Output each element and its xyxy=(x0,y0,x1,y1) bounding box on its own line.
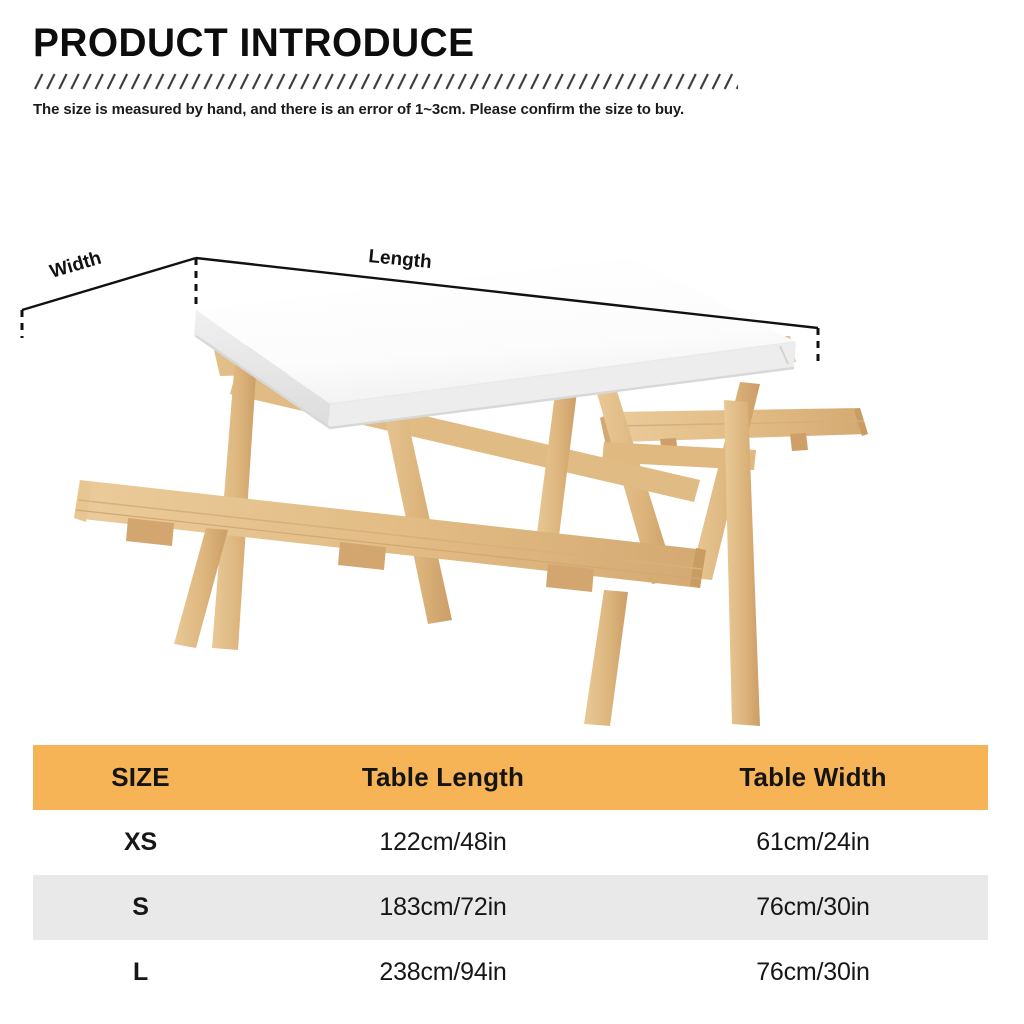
table-row: XS 122cm/48in 61cm/24in xyxy=(33,810,988,875)
cell-size: S xyxy=(33,875,248,940)
cell-table-length: 122cm/48in xyxy=(248,810,638,875)
length-label: Length xyxy=(368,246,433,273)
table-row: S 183cm/72in 76cm/30in xyxy=(33,875,988,940)
product-illustration: Width Length xyxy=(0,150,1024,730)
cell-table-length: 238cm/94in xyxy=(248,940,638,1005)
column-header-length: Table Length xyxy=(248,745,638,810)
table-row: L 238cm/94in 76cm/30in xyxy=(33,940,988,1005)
width-label: Width xyxy=(47,248,103,283)
page-title: PRODUCT INTRODUCE xyxy=(33,22,770,64)
bench-near xyxy=(74,480,706,592)
table-header-row: SIZE Table Length Table Width xyxy=(33,745,988,810)
size-chart-table: SIZE Table Length Table Width XS 122cm/4… xyxy=(33,745,988,1005)
diagonal-hatch-divider-icon xyxy=(33,73,738,90)
cell-size: L xyxy=(33,940,248,1005)
size-chart-body: XS 122cm/48in 61cm/24in S 183cm/72in 76c… xyxy=(33,810,988,1005)
header: PRODUCT INTRODUCE The size is measured b… xyxy=(33,22,793,118)
column-header-width: Table Width xyxy=(638,745,988,810)
size-disclaimer-text: The size is measured by hand, and there … xyxy=(33,101,782,118)
size-chart-head: SIZE Table Length Table Width xyxy=(33,745,988,810)
cell-table-width: 61cm/24in xyxy=(638,810,988,875)
column-header-size: SIZE xyxy=(33,745,248,810)
cell-table-width: 76cm/30in xyxy=(638,940,988,1005)
cell-table-length: 183cm/72in xyxy=(248,875,638,940)
cell-table-width: 76cm/30in xyxy=(638,875,988,940)
cell-size: XS xyxy=(33,810,248,875)
